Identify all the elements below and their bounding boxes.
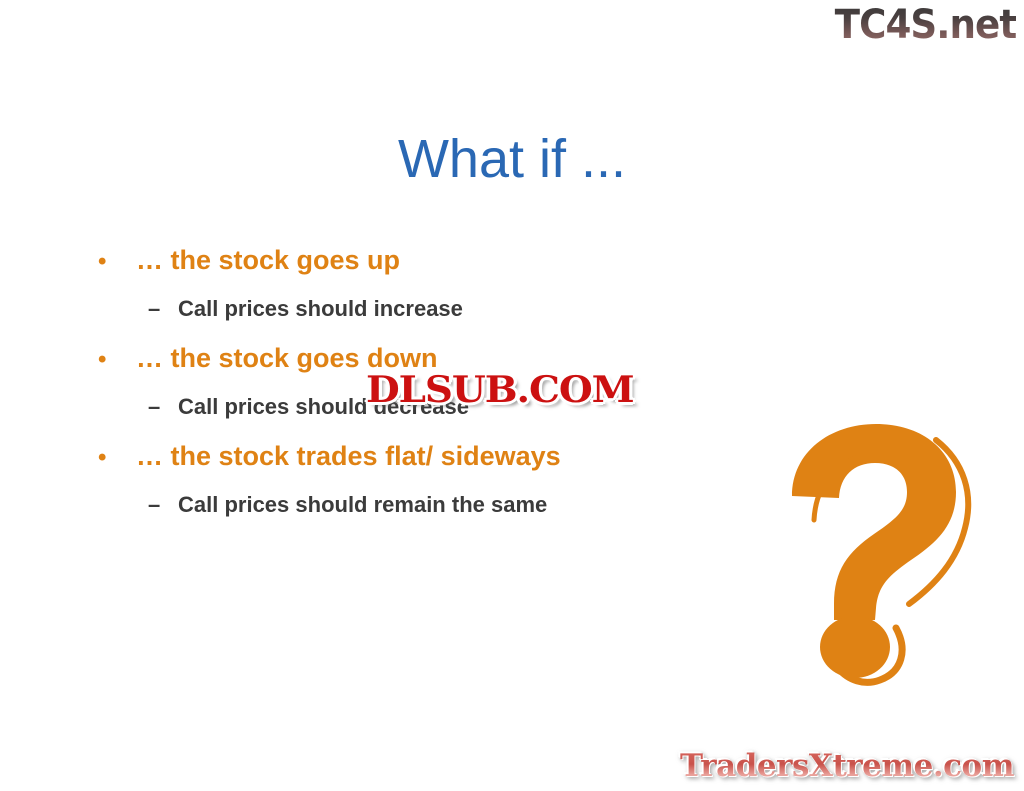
slide-canvas: TC4S.net What if ... • … the stock goes …: [0, 0, 1024, 791]
bullet-text: … the stock trades flat/ sideways: [136, 432, 561, 480]
dash-marker-icon: –: [148, 482, 178, 528]
bullet-item: • … the stock goes up: [98, 236, 738, 286]
dash-marker-icon: –: [148, 384, 178, 430]
sub-bullet-text: Call prices should remain the same: [178, 482, 547, 528]
question-mark-dot: [820, 616, 890, 678]
sub-bullet-item: – Call prices should remain the same: [98, 482, 738, 528]
sub-bullet-text: Call prices should increase: [178, 286, 463, 332]
bullet-item: • … the stock trades flat/ sideways: [98, 432, 738, 482]
bullet-group: • … the stock goes up – Call prices shou…: [98, 236, 738, 332]
sub-bullet-item: – Call prices should increase: [98, 286, 738, 332]
page-title: What if ...: [0, 128, 1024, 190]
bullet-marker-icon: •: [98, 336, 136, 384]
bullet-marker-icon: •: [98, 238, 136, 286]
bullet-marker-icon: •: [98, 434, 136, 482]
tradersxtreme-logo: TradersXtreme.com: [680, 747, 1014, 785]
question-mark-icon: [768, 418, 988, 686]
bullet-text: … the stock goes up: [136, 236, 400, 284]
dlsub-watermark: DLSUB.COM: [366, 370, 634, 410]
bullet-group: • … the stock trades flat/ sideways – Ca…: [98, 432, 738, 528]
tc4s-logo: TC4S.net: [834, 2, 1016, 48]
dash-marker-icon: –: [148, 286, 178, 332]
